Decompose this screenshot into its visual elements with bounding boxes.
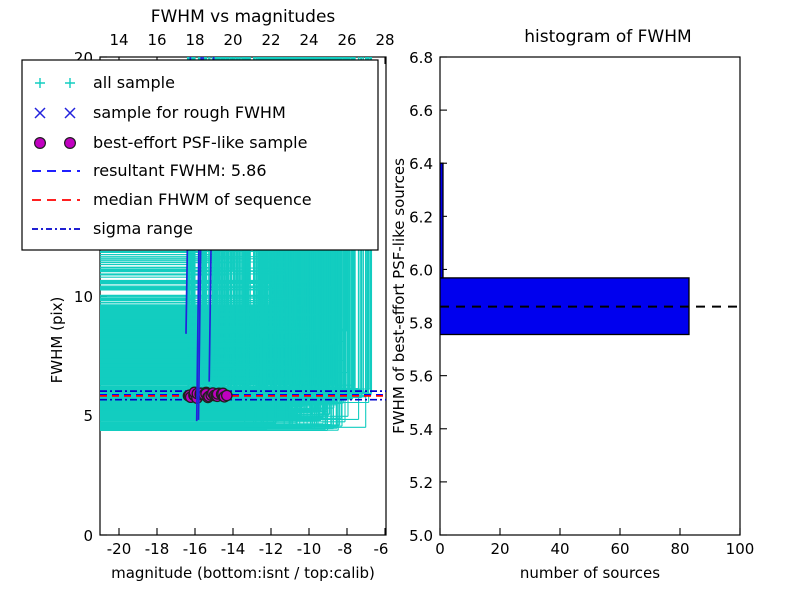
right-x-tick-label: 100 — [726, 540, 755, 558]
legend: all samplesample for rough FWHMbest-effo… — [22, 60, 378, 250]
legend-label: median FHWM of sequence — [93, 190, 312, 209]
top-tick-label: 16 — [147, 31, 166, 49]
series-psf-sample — [183, 387, 232, 403]
bottom-tick-label: -14 — [221, 540, 246, 558]
legend-box — [22, 60, 378, 250]
right-x-tick-label: 40 — [550, 540, 569, 558]
left-xaxis-label: magnitude (bottom:isnt / top:calib) — [111, 564, 375, 582]
right-panel-title: histogram of FWHM — [524, 27, 691, 47]
right-y-tick-label: 6.8 — [409, 49, 433, 67]
matplotlib-figure: FWHM vs magnitudes 14 16 18 20 22 24 26 … — [0, 0, 800, 600]
top-tick-label: 22 — [261, 31, 280, 49]
legend-label: all sample — [93, 73, 175, 92]
histogram-bar — [440, 163, 443, 278]
top-tick-label: 24 — [299, 31, 318, 49]
top-tick-label: 20 — [223, 31, 242, 49]
bottom-tick-label: -12 — [259, 540, 284, 558]
right-x-tick-label: 80 — [670, 540, 689, 558]
right-y-tick-label: 6.0 — [409, 261, 433, 279]
top-tick-label: 18 — [185, 31, 204, 49]
right-xaxis-label: number of sources — [520, 564, 660, 582]
figure-canvas: FWHM vs magnitudes 14 16 18 20 22 24 26 … — [0, 0, 800, 600]
right-y-tick-label: 5.6 — [409, 368, 433, 386]
bottom-tick-label: -8 — [338, 540, 353, 558]
bottom-tick-label: -10 — [297, 540, 322, 558]
right-y-tick-label: 6.2 — [409, 208, 433, 226]
bottom-tick-label: -18 — [145, 540, 170, 558]
bottom-tick-label: -16 — [183, 540, 208, 558]
right-yaxis-label: FWHM of best-effort PSF-like sources — [390, 158, 408, 434]
y-tick-label: 10 — [74, 288, 93, 306]
right-y-tick-label: 6.4 — [409, 155, 433, 173]
bottom-tick-label: -6 — [374, 540, 389, 558]
left-yaxis-label: FWHM (pix) — [48, 297, 66, 384]
bottom-tick-label: -20 — [107, 540, 132, 558]
legend-label: sample for rough FWHM — [93, 103, 286, 122]
right-y-tick-label: 5.2 — [409, 474, 433, 492]
legend-label: best-effort PSF-like sample — [93, 133, 307, 152]
right-y-tick-label: 6.6 — [409, 102, 433, 120]
right-y-tick-label: 5.0 — [409, 527, 433, 545]
right-x-tick-label: 60 — [610, 540, 629, 558]
right-x-tick-label: 0 — [435, 540, 445, 558]
y-tick-label: 0 — [83, 527, 93, 545]
top-tick-label: 14 — [109, 31, 128, 49]
y-tick-label: 5 — [83, 407, 93, 425]
top-tick-label: 28 — [375, 31, 394, 49]
right-x-tick-label: 20 — [490, 540, 509, 558]
right-y-tick-label: 5.8 — [409, 315, 433, 333]
right-y-tick-label: 5.4 — [409, 421, 433, 439]
left-panel-title: FWHM vs magnitudes — [151, 7, 336, 27]
top-tick-label: 26 — [337, 31, 356, 49]
legend-label: sigma range — [93, 219, 193, 238]
legend-label: resultant FWHM: 5.86 — [93, 161, 267, 180]
